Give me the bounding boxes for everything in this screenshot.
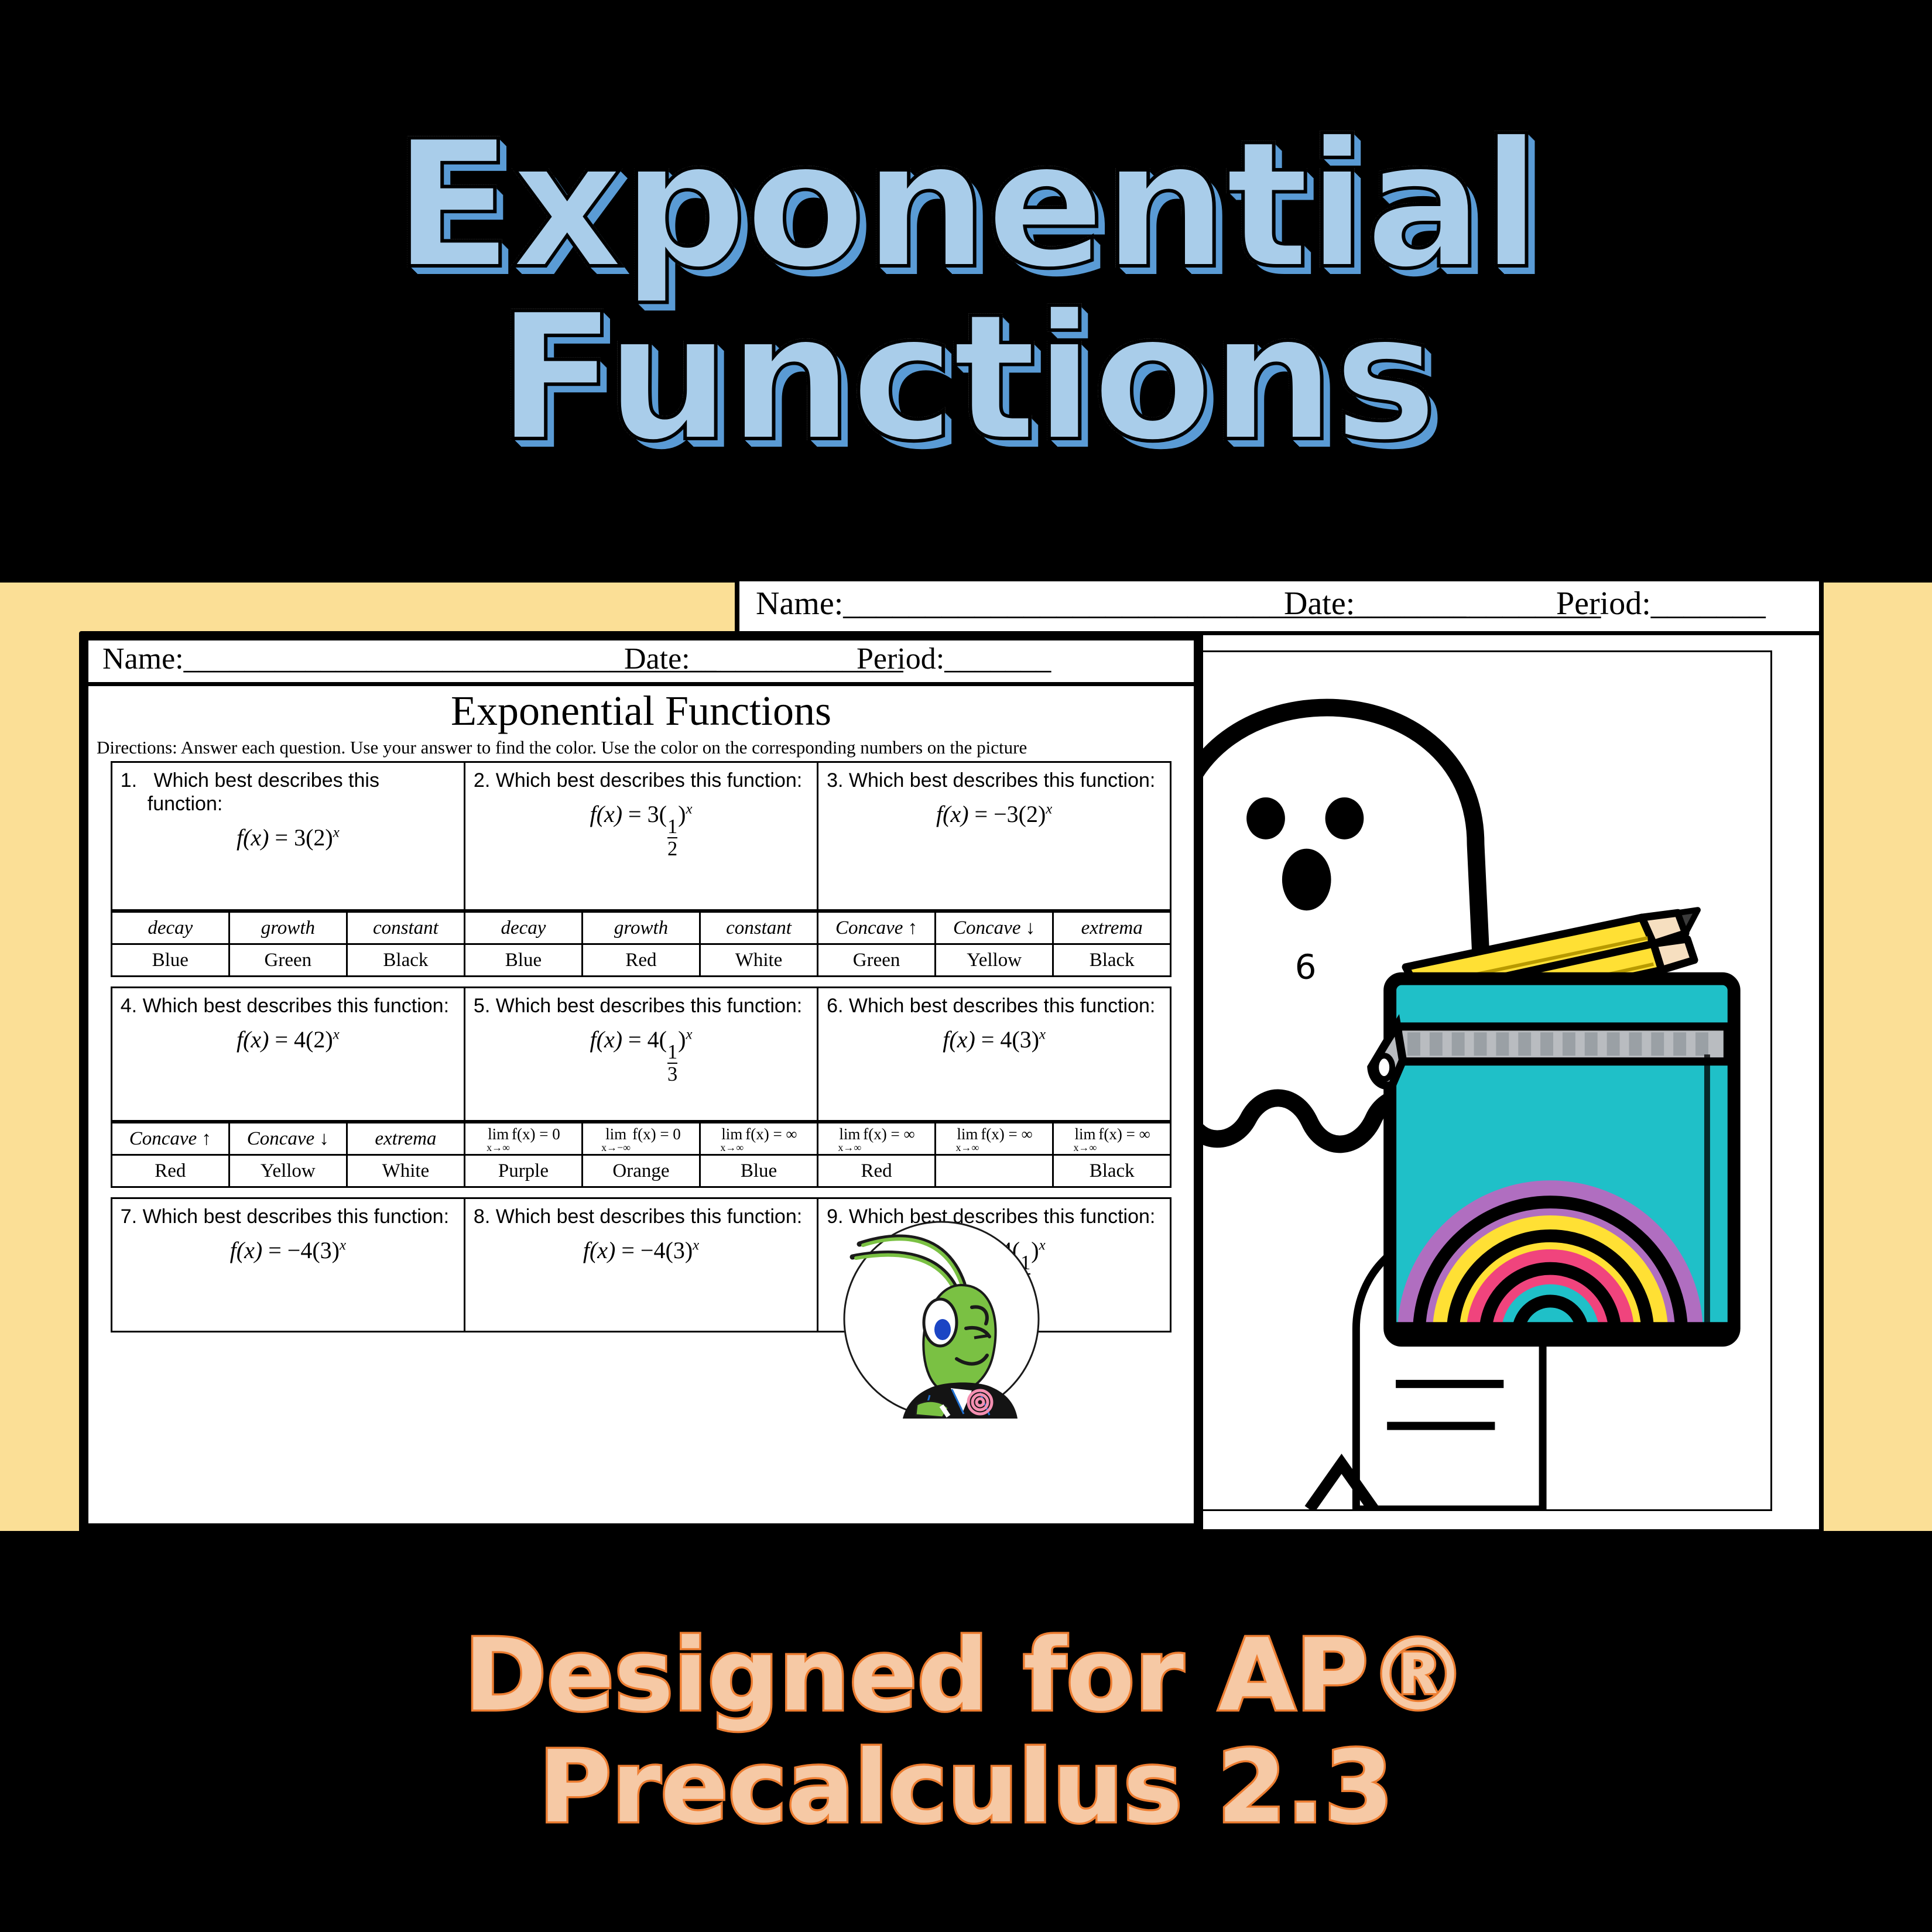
answer-bank-2-values: Red Yellow White Purple Orange Blue Red … [111, 1155, 1170, 1187]
ab1-v7: Yellow [936, 944, 1053, 977]
ab1-h1: growth [229, 912, 347, 944]
q5-number: 5. [474, 995, 490, 1017]
ab2-h5: limx→∞f(x) = ∞ [700, 1123, 818, 1155]
ab1-v1: Green [229, 944, 347, 977]
q7-prompt: Which best describes this function: [143, 1205, 449, 1228]
ab2-v1: Yellow [229, 1155, 347, 1187]
svg-text:6: 6 [1295, 947, 1317, 987]
back-date-label: Date:_______________ [1284, 585, 1601, 622]
answer-bank-2: Concave ↑ Concave ↓ extrema limx→∞f(x) =… [111, 1122, 1171, 1188]
q7-number: 7. [121, 1205, 137, 1228]
ab2-v7 [936, 1155, 1053, 1187]
q7-formula: f(x) = −4(3)x [121, 1236, 455, 1264]
q3-number: 3. [827, 769, 843, 792]
ab2-v3: Purple [464, 1155, 582, 1187]
question-cell-5: 5. Which best describes this function: f… [464, 988, 817, 1121]
ab2-v8: Black [1053, 1155, 1171, 1187]
lim-top-4: lim [605, 1126, 626, 1142]
q4-prompt: Which best describes this function: [143, 995, 449, 1017]
q3-prompt: Which best describes this function: [849, 769, 1155, 792]
q2-formula: f(x) = 3(12)x [474, 800, 809, 859]
q3-formula: f(x) = −3(2)x [827, 800, 1162, 828]
q5-formula: f(x) = 4(13)x [474, 1026, 809, 1084]
back-period-label: Period:_______ [1556, 585, 1766, 622]
lim-top-7: lim [957, 1126, 978, 1142]
ab2-h3: limx→∞f(x) = 0 [464, 1123, 582, 1155]
q4-number: 4. [121, 995, 137, 1017]
lim-top-8: lim [1074, 1126, 1095, 1142]
ab2-v6: Red [818, 1155, 936, 1187]
question-cell-8: 8. Which best describes this function: f… [464, 1198, 817, 1332]
question-row-2: 4. Which best describes this function: f… [111, 986, 1171, 1122]
q5-prompt: Which best describes this function: [496, 995, 802, 1017]
ab1-v6: Green [818, 944, 936, 977]
ab1-v2: Black [347, 944, 464, 977]
q8-prompt: Which best describes this function: [496, 1205, 802, 1228]
lim-bot-5: x→∞ [720, 1142, 744, 1153]
q2-prompt: Which best describes this function: [496, 769, 802, 792]
q9-number: 9. [827, 1205, 843, 1228]
answer-bank-1: decay growth constant decay growth const… [111, 911, 1171, 977]
question-cell-4: 4. Which best describes this function: f… [111, 988, 464, 1121]
question-cell-1: 1. Which best describes this function: f… [111, 762, 464, 910]
q6-prompt: Which best describes this function: [849, 995, 1155, 1017]
worksheet-title: Exponential Functions [88, 690, 1194, 732]
ab1-v4: Red [582, 944, 700, 977]
ab2-h4: limx→−∞f(x) = 0 [582, 1123, 700, 1155]
question-row-1: 1. Which best describes this function: f… [111, 761, 1171, 911]
title-line-2: Functions [488, 294, 1443, 461]
ab1-v0: Blue [111, 944, 229, 977]
footer-block: Designed for AP® Precalculus 2.3 [0, 1531, 1932, 1932]
q1-prompt-line2: function: [148, 793, 223, 815]
ab1-v5: White [700, 944, 818, 977]
question-cell-6: 6. Which best describes this function: f… [818, 988, 1171, 1121]
lim-bot-4: x→−∞ [601, 1142, 631, 1153]
q1-formula: f(x) = 3(2)x [121, 824, 455, 851]
ab1-v8: Black [1053, 944, 1171, 977]
lim-top-3: lim [488, 1126, 509, 1142]
answer-bank-1-values: Blue Green Black Blue Red White Green Ye… [111, 944, 1170, 977]
q4-formula: f(x) = 4(2)x [121, 1026, 455, 1053]
lim-rhs-8: f(x) = ∞ [1098, 1125, 1150, 1143]
q6-formula: f(x) = 4(3)x [827, 1026, 1162, 1053]
lim-top-5: lim [721, 1126, 742, 1142]
lim-bot-6: x→∞ [838, 1142, 861, 1153]
back-sheet-header: Name:___________________________________… [739, 581, 1819, 635]
footer-line-1: Designed for AP® [464, 1620, 1468, 1731]
title-block: Exponential Functions [0, 0, 1932, 583]
lim-bot-8: x→∞ [1074, 1142, 1097, 1153]
ab1-h3: decay [464, 912, 582, 944]
ab1-h2: constant [347, 912, 464, 944]
question-cell-3: 3. Which best describes this function: f… [818, 762, 1171, 910]
question-cell-2: 2. Which best describes this function: f… [464, 762, 817, 910]
q8-number: 8. [474, 1205, 490, 1228]
footer-line-2: Precalculus 2.3 [539, 1732, 1393, 1843]
lim-bot-3: x→∞ [487, 1142, 510, 1153]
ab2-h0: Concave ↑ [111, 1123, 229, 1155]
answer-bank-1-headers: decay growth constant decay growth const… [111, 912, 1170, 944]
lim-rhs-4: f(x) = 0 [632, 1125, 681, 1143]
ab2-h8: limx→∞f(x) = ∞ [1053, 1123, 1171, 1155]
front-sheet-header: Name:___________________________________… [88, 640, 1194, 686]
grasshopper-mascot-badge [842, 1220, 1041, 1419]
lim-rhs-7: f(x) = ∞ [981, 1125, 1032, 1143]
title-line-1: Exponential [385, 122, 1547, 289]
ab1-h0: decay [111, 912, 229, 944]
lim-top-6: lim [839, 1126, 860, 1142]
ab1-v3: Blue [464, 944, 582, 977]
ab2-h7: limx→∞f(x) = ∞ [936, 1123, 1053, 1155]
question-cell-7: 7. Which best describes this function: f… [111, 1198, 464, 1332]
q6-number: 6. [827, 995, 843, 1017]
ab2-v4: Orange [582, 1155, 700, 1187]
lim-rhs-5: f(x) = ∞ [745, 1125, 797, 1143]
lim-bot-7: x→∞ [955, 1142, 979, 1153]
ab1-h5: constant [700, 912, 818, 944]
q8-formula: f(x) = −4(3)x [474, 1236, 809, 1264]
ab2-v0: Red [111, 1155, 229, 1187]
ab2-v5: Blue [700, 1155, 818, 1187]
ab2-h1: Concave ↓ [229, 1123, 347, 1155]
ab1-h4: growth [582, 912, 700, 944]
answer-bank-2-headers: Concave ↑ Concave ↓ extrema limx→∞f(x) =… [111, 1123, 1170, 1155]
ab1-h7: Concave ↓ [936, 912, 1053, 944]
ab2-h2: extrema [347, 1123, 464, 1155]
worksheet-directions: Directions: Answer each question. Use yo… [88, 738, 1194, 758]
q1-number: 1. [121, 769, 137, 792]
lim-rhs-6: f(x) = ∞ [863, 1125, 914, 1143]
ab1-h6: Concave ↑ [818, 912, 936, 944]
q1-prompt-line1: Which best describes this [153, 769, 379, 792]
ab2-h6: limx→∞f(x) = ∞ [818, 1123, 936, 1155]
ab1-h8: extrema [1053, 912, 1171, 944]
front-period-label: Period:_______ [857, 642, 1051, 676]
q2-number: 2. [474, 769, 490, 792]
lim-rhs-3: f(x) = 0 [512, 1125, 560, 1143]
ab2-v2: White [347, 1155, 464, 1187]
